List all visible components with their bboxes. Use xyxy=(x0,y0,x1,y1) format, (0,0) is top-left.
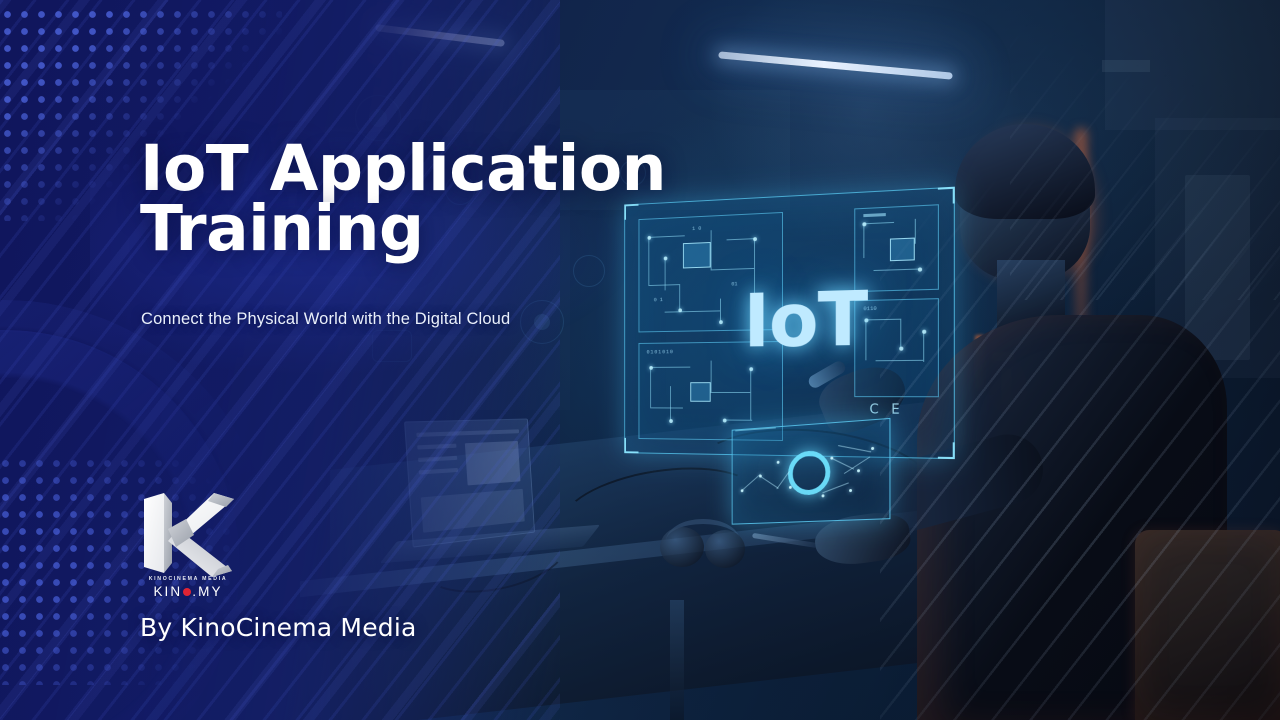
corner-bracket-icon xyxy=(624,438,638,454)
byline-text: By KinoCinema Media xyxy=(140,613,417,642)
desk-leg xyxy=(670,600,684,720)
logo-word-after-dot: .MY xyxy=(192,585,222,599)
headphones-icon xyxy=(705,530,745,568)
office-chair xyxy=(1135,530,1280,720)
logo-k-mark-icon xyxy=(138,489,238,577)
logo-wordmark: KINOCINEMA MEDIA KIN .MY xyxy=(138,577,238,599)
ring-graphic xyxy=(788,450,830,496)
diagonal-light-streaks xyxy=(1010,0,1280,300)
headphones-icon xyxy=(660,527,704,567)
logo-word-before-dot: KIN xyxy=(153,585,182,599)
brand-overlay-panel xyxy=(0,0,560,720)
hologram-iot-label: IoT xyxy=(744,275,868,364)
logo-domain-text: KIN .MY xyxy=(138,585,238,599)
logo-red-dot-icon xyxy=(183,588,191,596)
corner-bracket-icon xyxy=(938,187,955,205)
promotional-banner: 01 1 0 0 1 0101010 xyxy=(0,0,1280,720)
holographic-chart-panel xyxy=(732,418,891,525)
logo-kicker-text: KINOCINEMA MEDIA xyxy=(138,577,238,582)
brand-logo: KINOCINEMA MEDIA KIN .MY xyxy=(138,489,238,607)
page-subtitle: Connect the Physical World with the Digi… xyxy=(141,310,510,329)
chip-icon xyxy=(690,382,710,402)
certification-marks: C E xyxy=(869,402,903,418)
corner-bracket-icon xyxy=(938,442,955,459)
page-title: IoT Application Training xyxy=(140,139,900,260)
